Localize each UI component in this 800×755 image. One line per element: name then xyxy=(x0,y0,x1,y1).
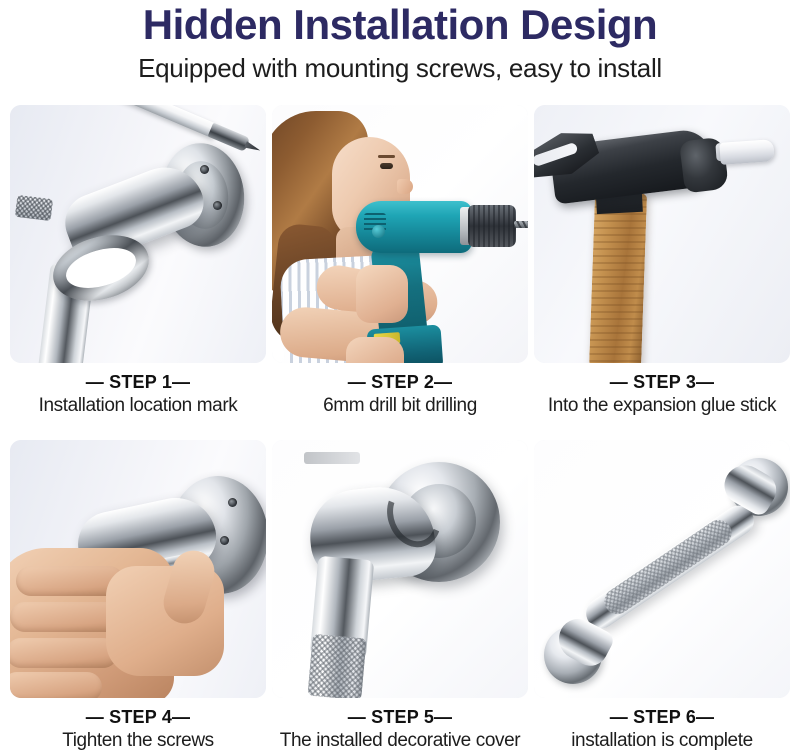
knurled-grip-texture xyxy=(307,634,366,698)
step-4-photo xyxy=(10,440,266,698)
step-2-photo xyxy=(272,105,528,363)
finger xyxy=(10,672,102,698)
hand-on-trigger xyxy=(356,265,408,323)
scene-claw-hammer-and-white-wall-anchor xyxy=(534,105,790,363)
screw-hole-icon xyxy=(228,498,237,507)
step-4-label: — STEP 4— xyxy=(10,706,266,728)
drill-speed-dial xyxy=(372,225,385,238)
brand-stamp xyxy=(304,452,360,464)
step-1-description: Installation location mark xyxy=(10,393,266,419)
expansion-wall-anchor xyxy=(719,139,774,165)
screw-hole-icon xyxy=(213,201,222,210)
step-6-description: installation is complete xyxy=(534,728,790,754)
step-1-photo xyxy=(10,105,266,363)
knurled-grip-texture xyxy=(15,195,53,221)
screw-hole-icon xyxy=(200,165,209,174)
scene-woman-holding-teal-cordless-drill xyxy=(272,105,528,363)
step-1-label: — STEP 1— xyxy=(10,371,266,393)
step-5-label: — STEP 5— xyxy=(272,706,528,728)
drill-chuck xyxy=(468,205,516,247)
page-subtitle: Equipped with mounting screws, easy to i… xyxy=(0,51,800,85)
step-cell-2: — STEP 2— 6mm drill bit drilling xyxy=(272,105,528,419)
step-2-caption: — STEP 2— 6mm drill bit drilling xyxy=(272,363,528,419)
steps-grid-row-2: — STEP 4— Tighten the screws — STEP 5— T… xyxy=(10,440,790,754)
step-6-label: — STEP 6— xyxy=(534,706,790,728)
screw-hole-icon xyxy=(220,536,229,545)
step-4-description: Tighten the screws xyxy=(10,728,266,754)
steps-grid-row-1: — STEP 1— Installation location mark xyxy=(10,105,790,419)
step-5-caption: — STEP 5— The installed decorative cover xyxy=(272,698,528,754)
step-3-label: — STEP 3— xyxy=(534,371,790,393)
step-2-label: — STEP 2— xyxy=(272,371,528,393)
drill-bit xyxy=(514,221,528,228)
step-cell-5: — STEP 5— The installed decorative cover xyxy=(272,440,528,754)
step-3-photo xyxy=(534,105,790,363)
step-6-caption: — STEP 6— installation is complete xyxy=(534,698,790,754)
scene-completed-diagonal-grab-bar-installation xyxy=(534,440,790,698)
step-4-caption: — STEP 4— Tighten the screws xyxy=(10,698,266,754)
scene-chrome-grab-bar-with-decorative-cover xyxy=(272,440,528,698)
page-title: Hidden Installation Design xyxy=(0,2,800,48)
finger xyxy=(10,638,118,668)
eyebrow xyxy=(378,155,395,158)
step-cell-6: — STEP 6— installation is complete xyxy=(534,440,790,754)
eye xyxy=(380,163,393,169)
step-1-caption: — STEP 1— Installation location mark xyxy=(10,363,266,419)
step-cell-1: — STEP 1— Installation location mark xyxy=(10,105,266,419)
hand-on-battery xyxy=(346,337,404,363)
hammer-wood-handle xyxy=(589,192,647,363)
step-3-description: Into the expansion glue stick xyxy=(534,393,790,419)
scene-grab-bar-with-pencil-marking-wall xyxy=(10,105,266,363)
nose xyxy=(397,179,413,194)
scene-hands-tightening-screw-with-screwdriver xyxy=(10,440,266,698)
step-2-description: 6mm drill bit drilling xyxy=(272,393,528,419)
page-header: Hidden Installation Design Equipped with… xyxy=(0,0,800,85)
step-3-caption: — STEP 3— Into the expansion glue stick xyxy=(534,363,790,419)
step-5-description: The installed decorative cover xyxy=(272,728,528,754)
step-cell-4: — STEP 4— Tighten the screws xyxy=(10,440,266,754)
step-5-photo xyxy=(272,440,528,698)
step-6-photo xyxy=(534,440,790,698)
step-cell-3: — STEP 3— Into the expansion glue stick xyxy=(534,105,790,419)
